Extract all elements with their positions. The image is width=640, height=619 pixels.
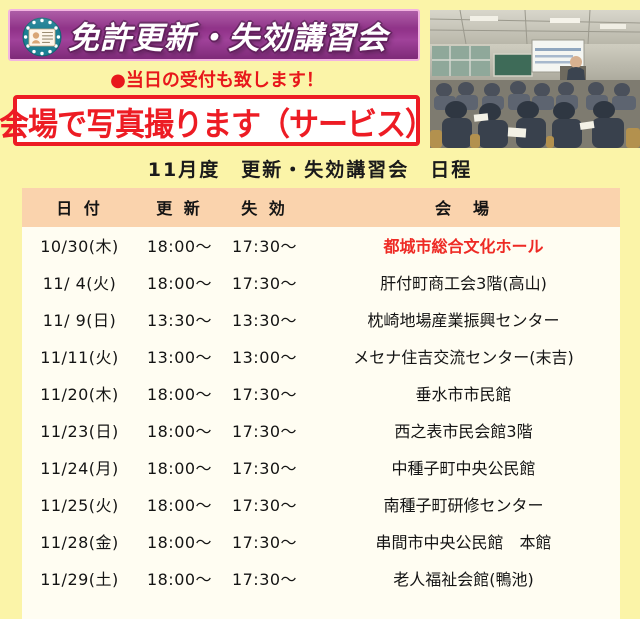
cell-date: 11/24(月) bbox=[22, 449, 137, 486]
cell-venue: 西之表市民会館3階 bbox=[307, 412, 620, 449]
poster-root: 免許更新・失効講習会 bbox=[0, 0, 640, 551]
table-row: 11/28(金)18:00〜17:30〜串間市中央公民館 本館 bbox=[22, 523, 620, 560]
table-row: 11/11(火)13:00〜13:00〜メセナ住吉交流センター(末吉) bbox=[22, 338, 620, 375]
table-row: 11/25(火)18:00〜17:30〜南種子町研修センター bbox=[22, 486, 620, 523]
table-row: 11/ 4(火)18:00〜17:30〜肝付町商工会3階(高山) bbox=[22, 264, 620, 301]
table-row: 11/ 9(日)13:30〜13:30〜枕崎地場産業振興センター bbox=[22, 301, 620, 338]
cell-renew: 18:00〜 bbox=[137, 227, 222, 264]
cell-venue: 中種子町中央公民館 bbox=[307, 449, 620, 486]
cell-date: 10/30(木) bbox=[22, 227, 137, 264]
cell-lapse: 13:00〜 bbox=[222, 338, 307, 375]
cell-date: 11/11(火) bbox=[22, 338, 137, 375]
cell-date: 11/28(金) bbox=[22, 523, 137, 560]
schedule-subtitle: 11月度 更新・失効講習会 日程 bbox=[0, 155, 620, 182]
cell-renew: 18:00〜 bbox=[137, 264, 222, 301]
cell-date: 11/20(木) bbox=[22, 375, 137, 412]
header-venue: 会 場 bbox=[307, 188, 620, 227]
same-day-reception-notice: ●当日の受付も致します！ bbox=[14, 66, 420, 92]
cell-date: 11/23(日) bbox=[22, 412, 137, 449]
cell-venue: 肝付町商工会3階(高山) bbox=[307, 264, 620, 301]
table-bottom-spacer bbox=[22, 597, 620, 619]
cell-venue: 枕崎地場産業振興センター bbox=[307, 301, 620, 338]
cell-lapse: 13:30〜 bbox=[222, 301, 307, 338]
cell-lapse: 17:30〜 bbox=[222, 227, 307, 264]
banner-title: 免許更新・失効講習会 bbox=[68, 13, 388, 58]
cell-lapse: 17:30〜 bbox=[222, 523, 307, 560]
cell-date: 11/ 4(火) bbox=[22, 264, 137, 301]
cell-lapse: 17:30〜 bbox=[222, 375, 307, 412]
table-row: 11/20(木)18:00〜17:30〜垂水市市民館 bbox=[22, 375, 620, 412]
cell-renew: 18:00〜 bbox=[137, 560, 222, 597]
cell-lapse: 17:30〜 bbox=[222, 449, 307, 486]
cell-lapse: 17:30〜 bbox=[222, 486, 307, 523]
id-card-badge-icon bbox=[20, 15, 64, 59]
header-lapse: 失 効 bbox=[222, 188, 307, 227]
cell-renew: 13:00〜 bbox=[137, 338, 222, 375]
cell-venue: 串間市中央公民館 本館 bbox=[307, 523, 620, 560]
cell-renew: 18:00〜 bbox=[137, 412, 222, 449]
schedule-table-wrap: 日 付 更 新 失 効 会 場 10/30(木)18:00〜17:30〜都城市総… bbox=[22, 188, 620, 619]
cell-lapse: 17:30〜 bbox=[222, 412, 307, 449]
cell-venue: 垂水市市民館 bbox=[307, 375, 620, 412]
table-row: 11/29(土)18:00〜17:30〜老人福祉会館(鴨池) bbox=[22, 560, 620, 597]
lecture-hall-photo bbox=[430, 10, 640, 148]
cell-renew: 18:00〜 bbox=[137, 375, 222, 412]
table-row: 11/24(月)18:00〜17:30〜中種子町中央公民館 bbox=[22, 449, 620, 486]
table-row: 11/23(日)18:00〜17:30〜西之表市民会館3階 bbox=[22, 412, 620, 449]
cell-venue: 老人福祉会館(鴨池) bbox=[307, 560, 620, 597]
cell-date: 11/25(火) bbox=[22, 486, 137, 523]
cell-venue: 都城市総合文化ホール bbox=[307, 227, 620, 264]
cell-venue: 南種子町研修センター bbox=[307, 486, 620, 523]
cell-renew: 18:00〜 bbox=[137, 486, 222, 523]
cell-renew: 13:30〜 bbox=[137, 301, 222, 338]
table-row: 10/30(木)18:00〜17:30〜都城市総合文化ホール bbox=[22, 227, 620, 264]
table-header-row: 日 付 更 新 失 効 会 場 bbox=[22, 188, 620, 227]
schedule-table-body: 10/30(木)18:00〜17:30〜都城市総合文化ホール11/ 4(火)18… bbox=[22, 227, 620, 597]
photo-service-box: 会場で写真撮ります（サービス） bbox=[13, 95, 420, 146]
photo-service-text: 会場で写真撮ります（サービス） bbox=[0, 97, 434, 144]
cell-date: 11/ 9(日) bbox=[22, 301, 137, 338]
header-date: 日 付 bbox=[22, 188, 137, 227]
schedule-table-head: 日 付 更 新 失 効 会 場 bbox=[22, 188, 620, 227]
cell-venue: メセナ住吉交流センター(末吉) bbox=[307, 338, 620, 375]
cell-renew: 18:00〜 bbox=[137, 449, 222, 486]
cell-renew: 18:00〜 bbox=[137, 523, 222, 560]
cell-lapse: 17:30〜 bbox=[222, 560, 307, 597]
cell-date: 11/29(土) bbox=[22, 560, 137, 597]
cell-lapse: 17:30〜 bbox=[222, 264, 307, 301]
header-renew: 更 新 bbox=[137, 188, 222, 227]
schedule-table: 日 付 更 新 失 効 会 場 10/30(木)18:00〜17:30〜都城市総… bbox=[22, 188, 620, 597]
title-banner: 免許更新・失効講習会 bbox=[8, 9, 420, 61]
